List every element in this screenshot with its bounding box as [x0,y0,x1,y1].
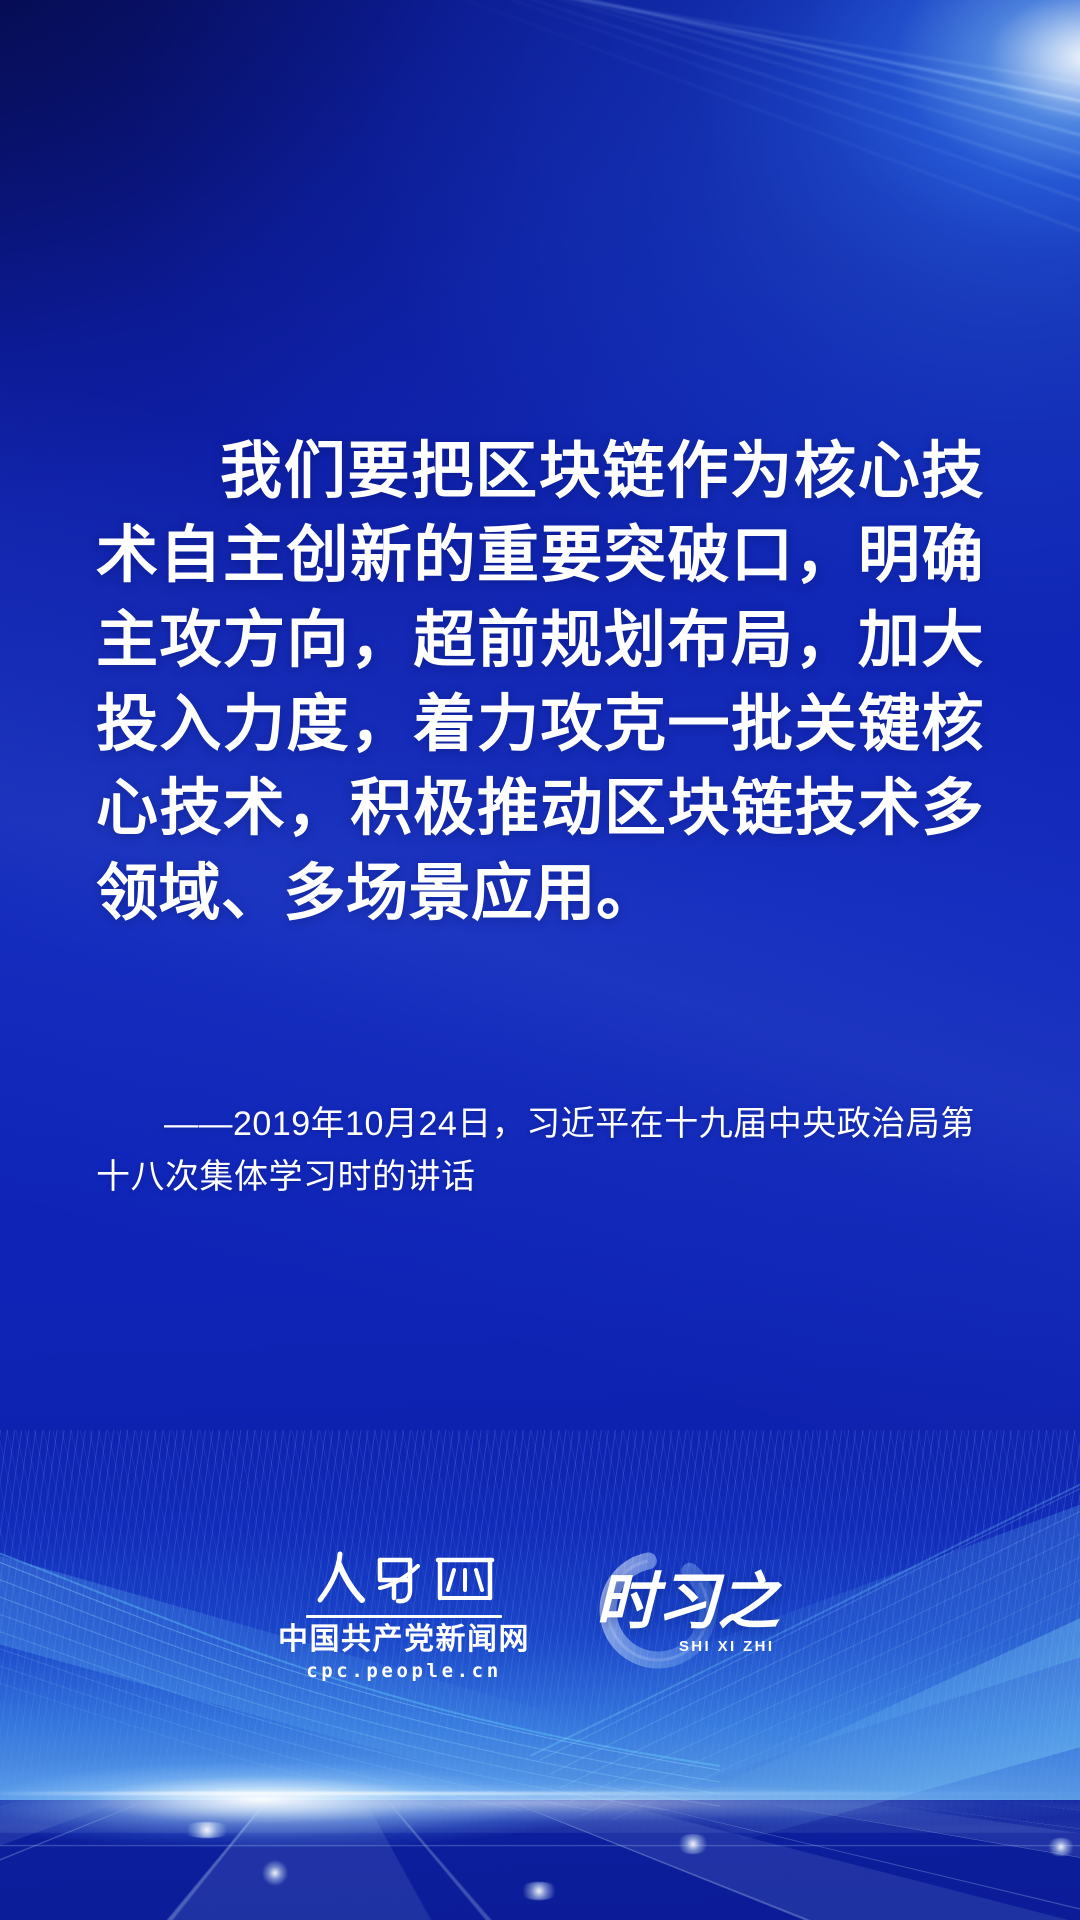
shixizhi-title: 时习之 [595,1572,778,1634]
poster-canvas: 我们要把区块链作为核心技术自主创新的重要突破口，明确主攻方向，超前规划布局，加大… [0,0,1080,1920]
peoples-daily-url: cpc.people.cn [306,1662,502,1681]
peoples-daily-subtitle: 中国共产党新闻网 [278,1625,530,1655]
quote-attribution: ——2019年10月24日，习近平在十九届中央政治局第十八次集体学习时的讲话 [96,1098,984,1204]
shixizhi-logo[interactable]: 时习之 SHI XI ZHI [572,1538,802,1688]
quote-text: 我们要把区块链作为核心技术自主创新的重要突破口，明确主攻方向，超前规划布局，加大… [96,430,984,936]
poster-content: 我们要把区块链作为核心技术自主创新的重要突破口，明确主攻方向，超前规划布局，加大… [0,0,1080,1920]
shixizhi-pinyin: SHI XI ZHI [679,1638,775,1655]
peoples-daily-logo[interactable]: 中国共产党新闻网 cpc.people.cn [278,1546,530,1681]
logo-divider [306,1615,502,1618]
logo-strip: 中国共产党新闻网 cpc.people.cn 时习 [0,1528,1080,1698]
quote-block: 我们要把区块链作为核心技术自主创新的重要突破口，明确主攻方向，超前规划布局，加大… [96,430,984,936]
renminwang-calligraphy-icon [306,1546,502,1610]
shixizhi-wordmark: 时习之 SHI XI ZHI [595,1572,778,1655]
